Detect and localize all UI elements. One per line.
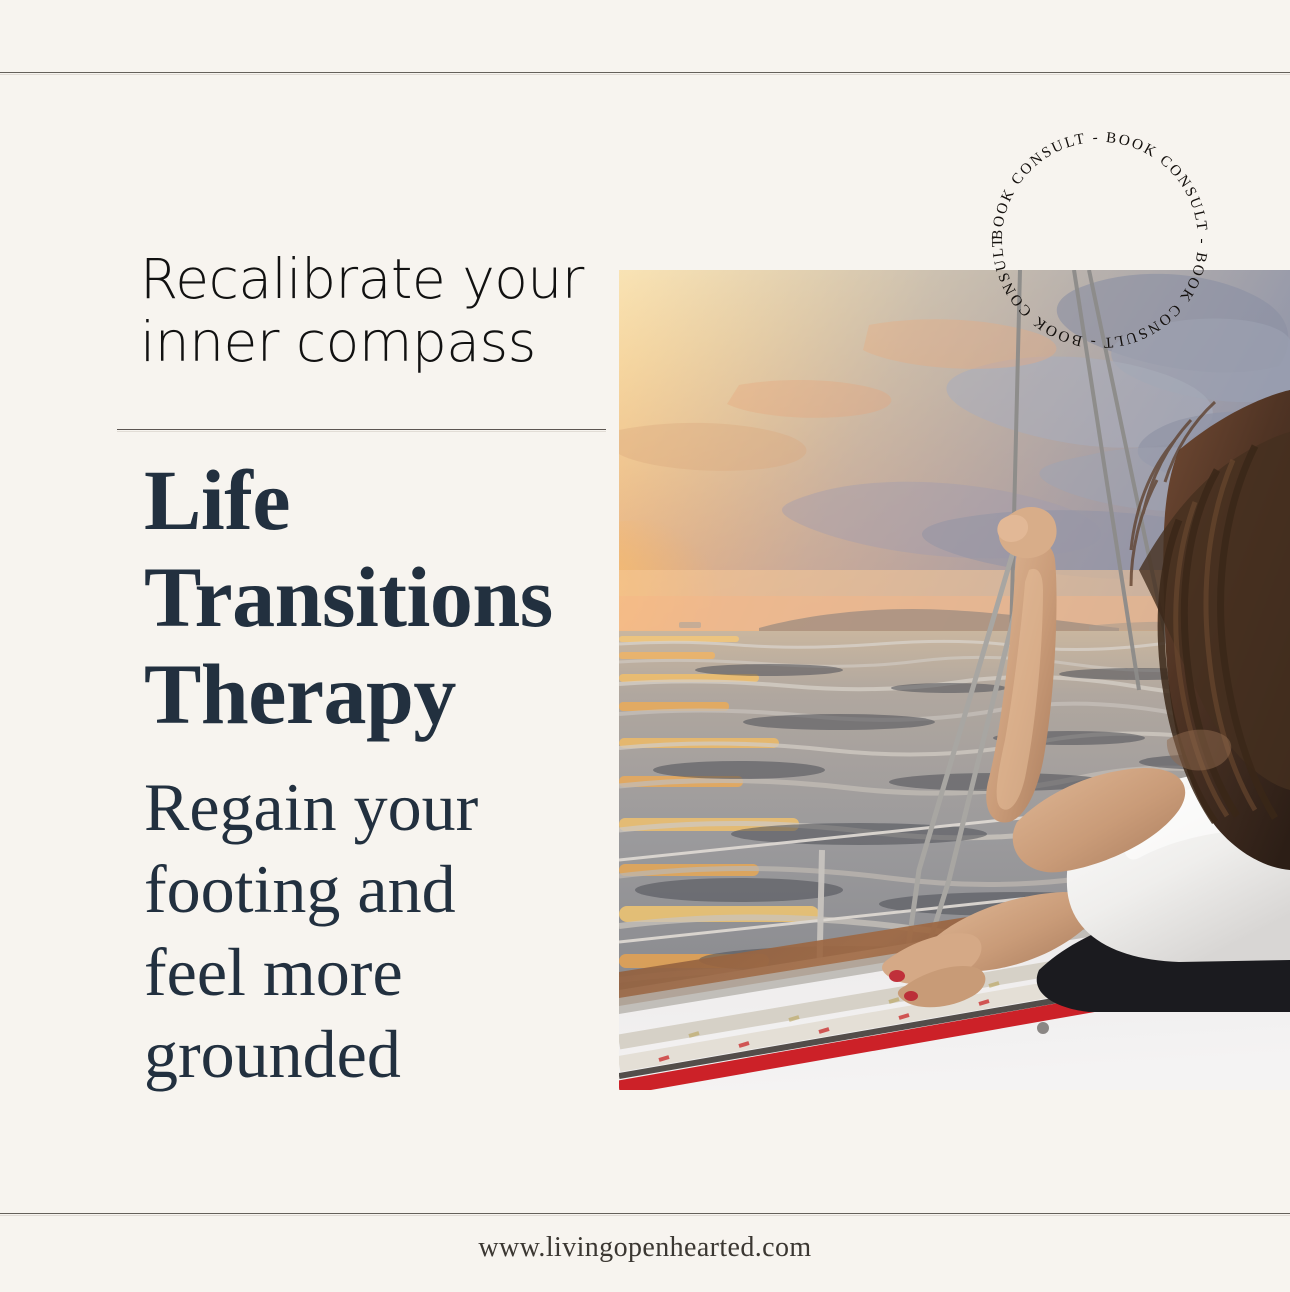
sailboat-sunset-photo bbox=[619, 270, 1290, 1090]
book-consult-badge[interactable]: BOOK CONSULT - BOOK CONSULT - BOOK CONSU… bbox=[985, 125, 1215, 355]
eyebrow-line-1: Recalibrate your bbox=[140, 248, 620, 311]
eyebrow-headline: Recalibrate your inner compass bbox=[140, 248, 620, 373]
page-subtitle: Regain your footing and feel more ground… bbox=[144, 766, 574, 1095]
title-line-1: Life bbox=[144, 452, 614, 549]
headline-divider bbox=[117, 429, 606, 430]
bottom-divider-line bbox=[0, 1213, 1290, 1214]
book-consult-ring-text: BOOK CONSULT - BOOK CONSULT - BOOK CONSU… bbox=[985, 125, 1211, 351]
subtitle-line-1: Regain your bbox=[144, 766, 574, 848]
top-divider-line bbox=[0, 72, 1290, 73]
top-divider-line-shadow bbox=[0, 74, 1290, 75]
subtitle-line-3: feel more bbox=[144, 931, 574, 1013]
page-title: Life Transitions Therapy bbox=[144, 452, 614, 744]
title-line-2: Transitions bbox=[144, 549, 614, 646]
poster-canvas: Recalibrate your inner compass Life Tran… bbox=[0, 0, 1290, 1292]
bottom-divider-line-shadow bbox=[0, 1215, 1290, 1216]
subtitle-line-2: footing and bbox=[144, 848, 574, 930]
eyebrow-line-2: inner compass bbox=[140, 311, 620, 374]
footer-website[interactable]: www.livingopenhearted.com bbox=[0, 1232, 1290, 1264]
title-line-3: Therapy bbox=[144, 646, 614, 743]
subtitle-line-4: grounded bbox=[144, 1013, 574, 1095]
headline-divider-shadow bbox=[117, 431, 606, 432]
